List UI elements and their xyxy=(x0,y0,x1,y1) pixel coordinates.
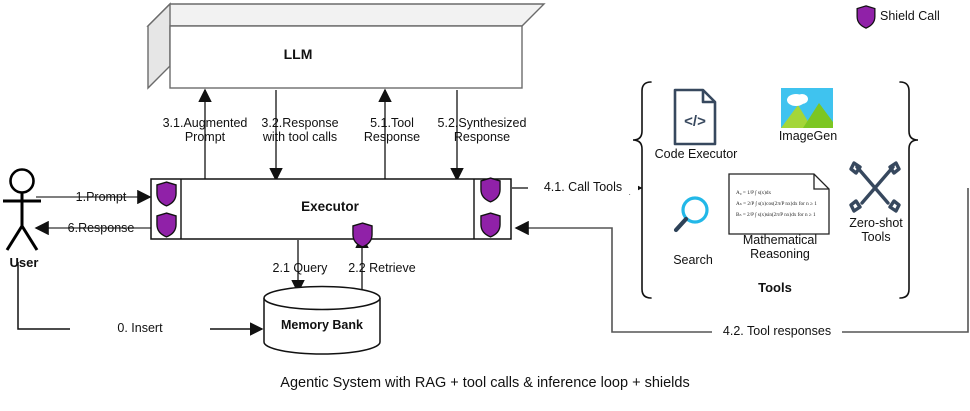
edge-label-tool-responses: 4.2. Tool responses xyxy=(712,324,842,338)
edge-label-insert: 0. Insert xyxy=(70,321,210,335)
user-label: User xyxy=(0,256,48,270)
tool-label-imagegen: ImageGen xyxy=(763,129,853,143)
tools-group-label: Tools xyxy=(730,281,820,295)
edge-label-prompt: 1.Prompt xyxy=(48,190,154,204)
llm-top-face xyxy=(148,4,544,26)
shield-icon[interactable] xyxy=(156,212,177,238)
memory-bank-label: Memory Bank xyxy=(262,318,382,332)
tool-label-mathematical-reasoning: Mathematical Reasoning xyxy=(722,233,838,261)
crossed-wrenches-icon[interactable] xyxy=(848,160,902,214)
edge-label-call-tools: 4.1. Call Tools xyxy=(528,180,638,194)
user-head xyxy=(11,170,34,193)
edge-label-synthesized-response: 5.2.Synthesized Response xyxy=(420,116,544,144)
svg-text:Aₙ = 2/P ∫ s(x)cos(2π/P nx)dx: Aₙ = 2/P ∫ s(x)cos(2π/P nx)dx for n ≥ 1 xyxy=(736,200,817,207)
svg-text:A₀ = 1/P ∫ s(x)dx: A₀ = 1/P ∫ s(x)dx xyxy=(736,189,771,196)
shield-icon xyxy=(856,5,876,29)
executor-label: Executor xyxy=(230,200,430,214)
cylinder-top xyxy=(264,287,380,310)
diagram-canvas: LLM Executor Memory Bank User 1.Prompt 6… xyxy=(0,0,970,411)
tool-label-code-executor: Code Executor xyxy=(650,147,742,161)
magnifier-icon[interactable] xyxy=(672,195,712,239)
llm-side-face xyxy=(148,4,170,88)
tool-label-zero-shot-tools: Zero-shot Tools xyxy=(838,216,914,244)
tools-brace-right xyxy=(900,82,918,298)
shield-icon[interactable] xyxy=(480,177,501,203)
shield-icon[interactable] xyxy=(156,181,177,207)
tool-label-search: Search xyxy=(654,253,732,267)
shield-icon[interactable] xyxy=(480,212,501,238)
formula-document-icon[interactable]: A₀ = 1/P ∫ s(x)dx Aₙ = 2/P ∫ s(x)cos(2π/… xyxy=(728,173,830,235)
image-picture-icon[interactable] xyxy=(781,88,833,128)
edge-label-response: 6.Response xyxy=(48,221,154,235)
shield-icon[interactable] xyxy=(352,222,373,248)
code-document-icon[interactable]: </> xyxy=(672,88,718,146)
svg-text:Bₙ = 2/P ∫ s(x)sin(2π/P nx)dx: Bₙ = 2/P ∫ s(x)sin(2π/P nx)dx for n ≥ 1 xyxy=(736,211,816,218)
edge-label-retrieve: 2.2 Retrieve xyxy=(332,261,432,275)
edge-insert xyxy=(18,262,262,329)
llm-label: LLM xyxy=(198,47,398,61)
svg-text:</>: </> xyxy=(684,113,706,130)
user-node[interactable] xyxy=(2,168,48,258)
diagram-caption: Agentic System with RAG + tool calls & i… xyxy=(0,376,970,390)
legend-shield-label: Shield Call xyxy=(880,9,970,23)
